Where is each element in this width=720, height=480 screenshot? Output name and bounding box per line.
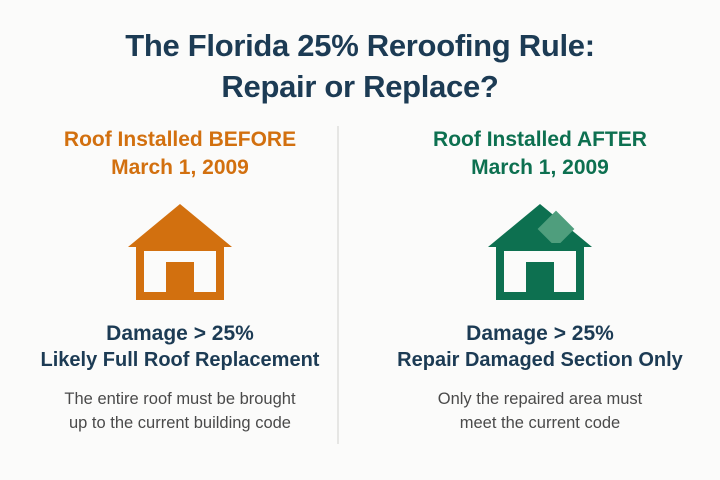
column-before-icon-wrap xyxy=(126,198,234,302)
column-after-emphasis-line-2: Repair Damaged Section Only xyxy=(397,347,683,374)
page-title: The Florida 25% Reroofing Rule: Repair o… xyxy=(0,0,720,108)
reroofing-rule-infographic: The Florida 25% Reroofing Rule: Repair o… xyxy=(0,0,720,480)
column-before-heading-line-1: Roof Installed BEFORE xyxy=(64,128,296,151)
column-before-heading: Roof Installed BEFORE March 1, 2009 xyxy=(64,126,296,182)
column-after-emphasis-line-1: Damage > 25% xyxy=(397,320,683,347)
column-divider xyxy=(337,126,339,444)
column-after-note-line-1: Only the repaired area must xyxy=(438,388,643,412)
column-after-heading-line-1: Roof Installed AFTER xyxy=(433,128,647,151)
column-before-note-line-1: The entire roof must be brought xyxy=(64,388,295,412)
column-before-emphasis: Damage > 25% Likely Full Roof Replacemen… xyxy=(41,320,320,374)
column-after-heading-line-2: March 1, 2009 xyxy=(433,154,647,182)
comparison-columns: Roof Installed BEFORE March 1, 2009 Dama… xyxy=(0,108,720,480)
column-after-note-line-2: meet the current code xyxy=(438,412,643,436)
column-before: Roof Installed BEFORE March 1, 2009 Dama… xyxy=(0,120,360,480)
title-line-1: The Florida 25% Reroofing Rule: xyxy=(0,26,720,67)
house-with-patch-icon xyxy=(486,200,594,300)
column-after-icon-wrap xyxy=(486,198,594,302)
title-line-2: Repair or Replace? xyxy=(0,67,720,108)
column-before-heading-line-2: March 1, 2009 xyxy=(64,154,296,182)
column-after-note: Only the repaired area must meet the cur… xyxy=(438,388,643,436)
column-after-heading: Roof Installed AFTER March 1, 2009 xyxy=(433,126,647,182)
column-after-emphasis: Damage > 25% Repair Damaged Section Only xyxy=(397,320,683,374)
column-before-emphasis-line-2: Likely Full Roof Replacement xyxy=(41,347,320,374)
column-before-note-line-2: up to the current building code xyxy=(64,412,295,436)
column-before-emphasis-line-1: Damage > 25% xyxy=(41,320,320,347)
column-after: Roof Installed AFTER March 1, 2009 Damag… xyxy=(360,120,720,480)
house-icon xyxy=(126,200,234,300)
column-before-note: The entire roof must be brought up to th… xyxy=(64,388,295,436)
